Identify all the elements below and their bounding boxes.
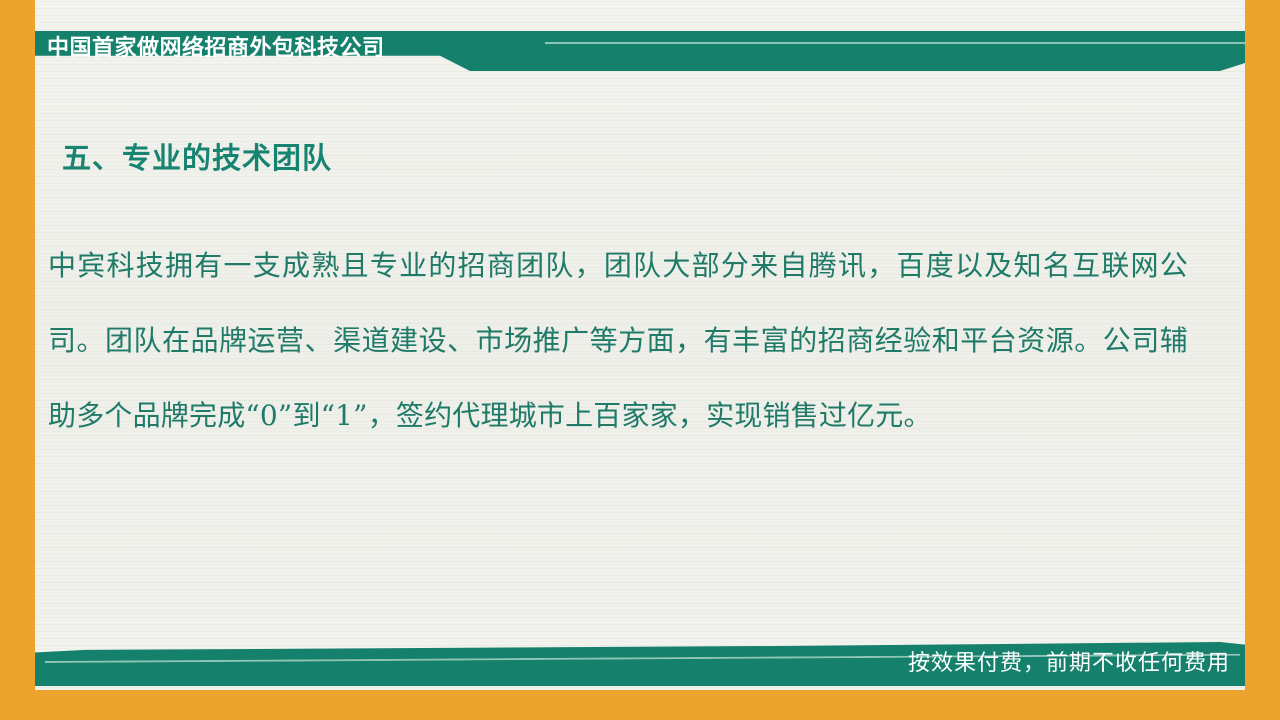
- header-title: 中国首家做网络招商外包科技公司: [47, 33, 385, 65]
- footer-tagline: 按效果付费，前期不收任何费用: [908, 648, 1230, 680]
- slide-canvas: 中国首家做网络招商外包科技公司 五、专业的技术团队 中宾科技拥有一支成熟且专业的…: [0, 0, 1280, 720]
- header-hairline-divider: [545, 42, 1245, 44]
- section-heading: 五、专业的技术团队: [62, 135, 332, 177]
- body-paragraph: 中宾科技拥有一支成熟且专业的招商团队，团队大部分来自腾讯，百度以及知名互联网公司…: [48, 228, 1188, 453]
